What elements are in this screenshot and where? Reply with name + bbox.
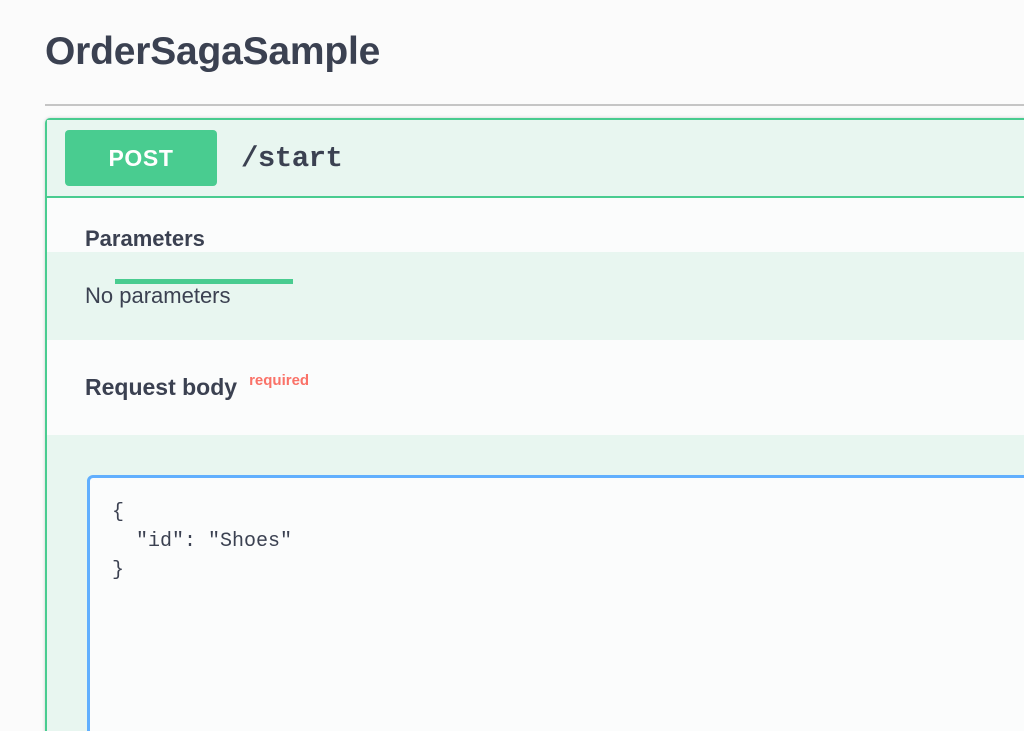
api-info-block: OrderSagaSample	[45, 0, 1024, 76]
request-body-header: Request body required	[47, 340, 1024, 435]
tab-parameters[interactable]: Parameters	[85, 226, 205, 252]
opblock-summary[interactable]: POST /start	[47, 120, 1024, 198]
opblock-body: Parameters No parameters Request body re…	[47, 198, 1024, 731]
parameters-empty-row: No parameters	[47, 252, 1024, 340]
tab-active-indicator	[115, 279, 293, 284]
opblock-post-start: POST /start Parameters No parameters Req…	[45, 118, 1024, 731]
http-method-badge[interactable]: POST	[65, 130, 217, 186]
page-title: OrderSagaSample	[45, 28, 1024, 76]
title-divider	[45, 104, 1024, 106]
parameters-tab-bar: Parameters	[47, 198, 1024, 252]
swagger-ui-page: OrderSagaSample POST /start Parameters N…	[0, 0, 1024, 731]
operation-path: /start	[241, 142, 342, 175]
request-body-label: Request body	[85, 374, 237, 401]
no-parameters-text: No parameters	[85, 283, 231, 309]
required-badge: required	[249, 372, 309, 389]
request-body-textarea[interactable]	[87, 475, 1024, 731]
request-body-editor-area	[47, 435, 1024, 731]
